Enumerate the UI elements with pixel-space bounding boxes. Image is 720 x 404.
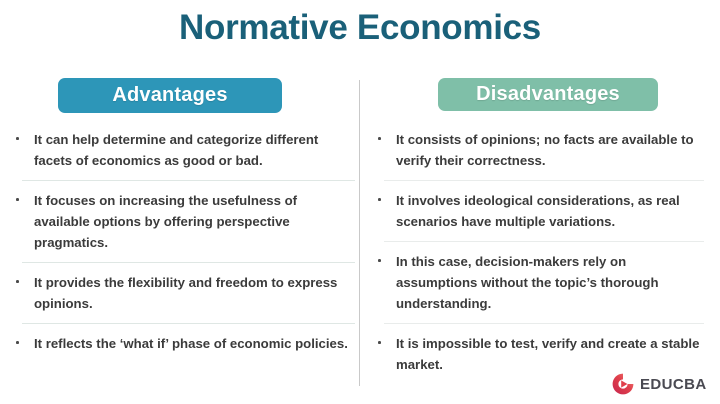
list-item-text: It is impossible to test, verify and cre…: [396, 333, 710, 375]
item-separator: [22, 323, 355, 324]
item-separator: [22, 262, 355, 263]
slide-canvas: Normative Economics Advantages It can he…: [0, 0, 720, 404]
list-item: It can help determine and categorize dif…: [10, 129, 355, 171]
bullet-dot-icon: [378, 341, 381, 344]
disadvantages-header-pill: Disadvantages: [438, 78, 658, 111]
bullet-dot-icon: [16, 137, 19, 140]
advantages-column: Advantages It can help determine and cat…: [10, 78, 355, 354]
column-divider: [359, 80, 360, 386]
list-item-text: It can help determine and categorize dif…: [34, 129, 355, 171]
list-item-text: It provides the flexibility and freedom …: [34, 272, 355, 314]
educba-wordmark: EDUCBA: [640, 376, 707, 393]
educba-swirl-icon: [611, 372, 635, 396]
bullet-dot-icon: [16, 341, 19, 344]
list-item: It provides the flexibility and freedom …: [10, 272, 355, 314]
list-item-text: It reflects the ‘what if’ phase of econo…: [34, 333, 355, 354]
bullet-dot-icon: [16, 280, 19, 283]
page-title: Normative Economics: [0, 6, 720, 50]
bullet-dot-icon: [378, 198, 381, 201]
list-item: In this case, decision-makers rely on as…: [372, 251, 710, 314]
list-item-text: In this case, decision-makers rely on as…: [396, 251, 710, 314]
item-separator: [384, 241, 704, 242]
item-separator: [384, 180, 704, 181]
bullet-dot-icon: [378, 137, 381, 140]
advantages-list: It can help determine and categorize dif…: [10, 129, 355, 354]
bullet-dot-icon: [378, 259, 381, 262]
list-item: It consists of opinions; no facts are av…: [372, 129, 710, 171]
item-separator: [384, 323, 704, 324]
bullet-dot-icon: [16, 198, 19, 201]
list-item-text: It involves ideological considerations, …: [396, 190, 710, 232]
educba-logo: EDUCBA: [611, 371, 711, 397]
list-item: It is impossible to test, verify and cre…: [372, 333, 710, 375]
advantages-header-pill: Advantages: [58, 78, 282, 113]
list-item-text: It consists of opinions; no facts are av…: [396, 129, 710, 171]
item-separator: [22, 180, 355, 181]
list-item-text: It focuses on increasing the usefulness …: [34, 190, 355, 253]
list-item: It focuses on increasing the usefulness …: [10, 190, 355, 253]
disadvantages-list: It consists of opinions; no facts are av…: [372, 129, 710, 375]
list-item: It reflects the ‘what if’ phase of econo…: [10, 333, 355, 354]
disadvantages-column: Disadvantages It consists of opinions; n…: [372, 78, 710, 375]
list-item: It involves ideological considerations, …: [372, 190, 710, 232]
